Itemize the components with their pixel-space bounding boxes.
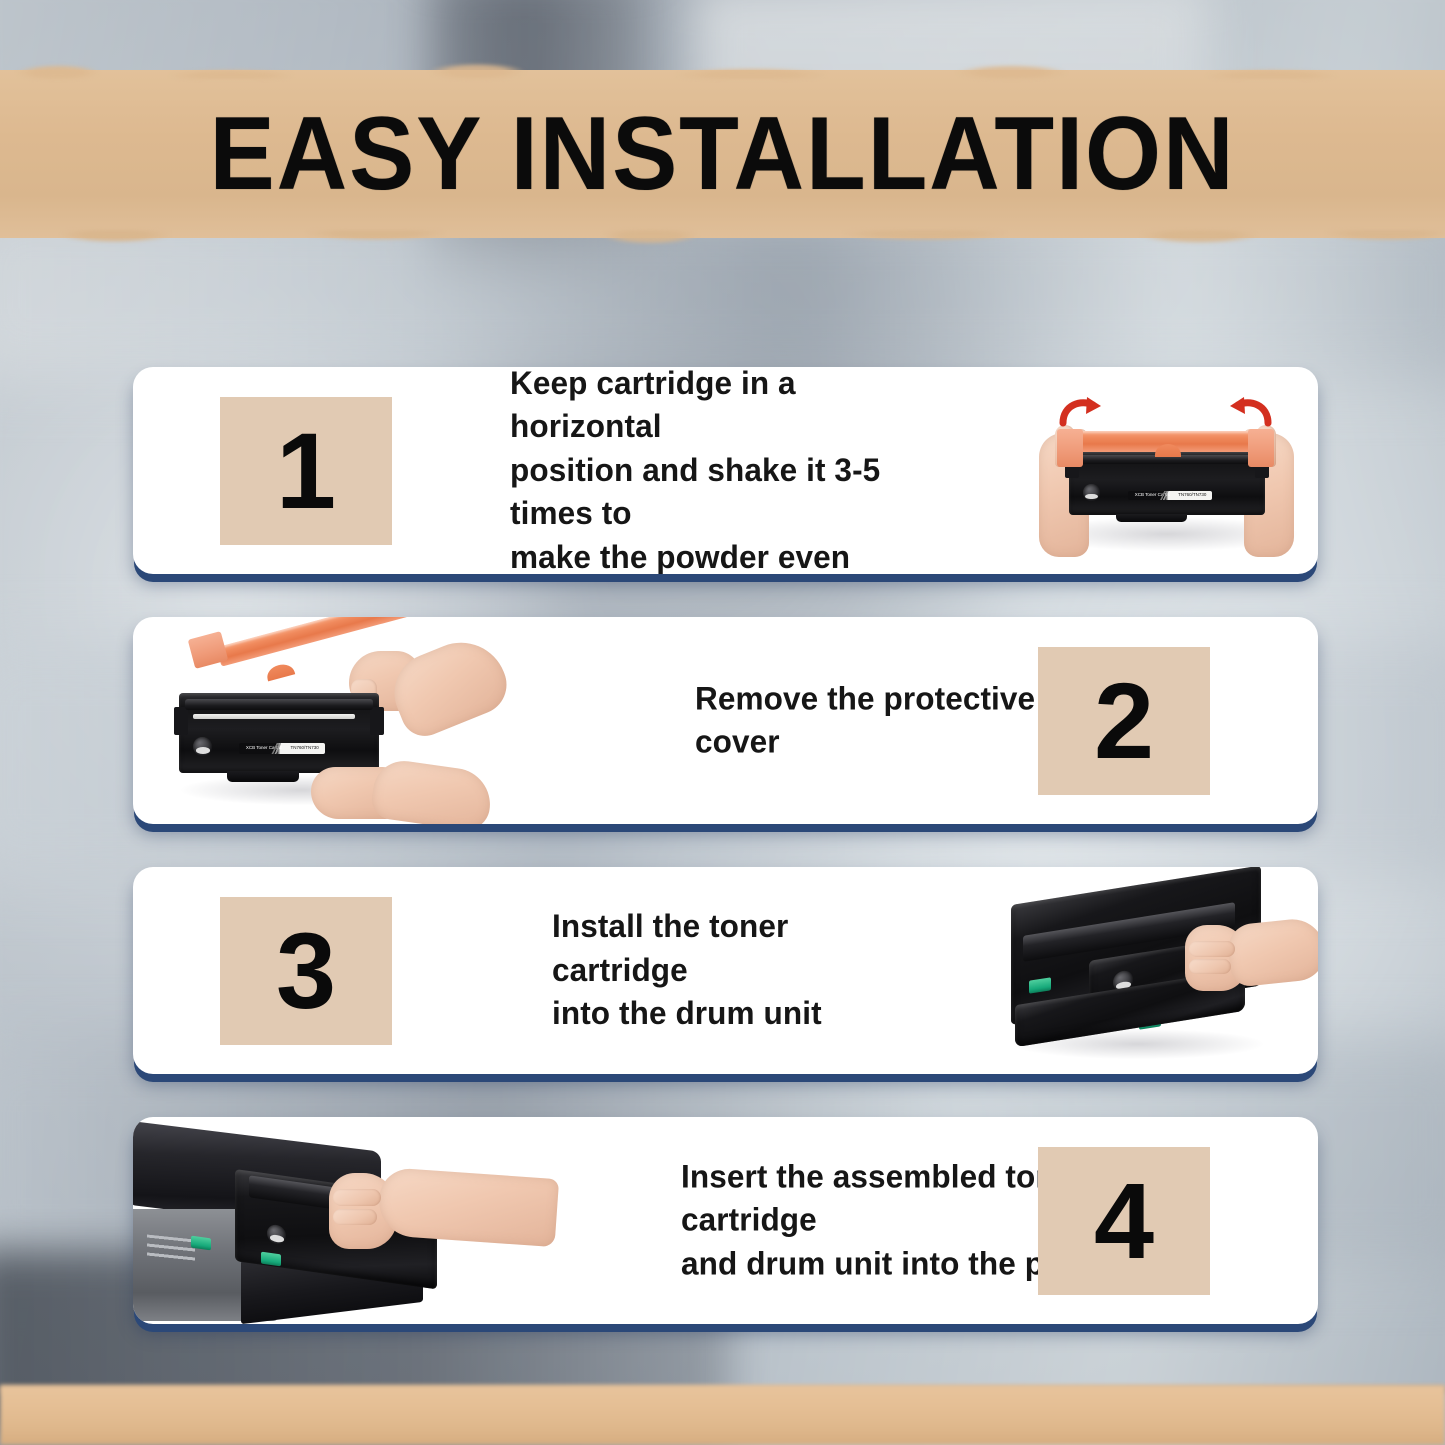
shake-arrow-left-icon [1059,395,1103,427]
step-description-1: Keep cartridge in a horizontal position … [510,367,927,574]
cover-end-cap-left [1057,429,1083,467]
cartridge-label: XCB Toner Cartridge TN760/TN730 [1128,491,1212,500]
step-card-2: XCB Toner Cartridge TN760/TN730 Remove t… [133,617,1318,824]
wooden-desk-surface [0,1385,1445,1445]
upper-forearm [382,629,515,743]
forearm [377,1167,559,1247]
step-card-1: 1 Keep cartridge in a horizontal positio… [133,367,1318,574]
cartridge-label: XCB Toner Cartridge TN760/TN730 [239,743,325,754]
step-image-2: XCB Toner Cartridge TN760/TN730 [161,617,581,824]
toner-cartridge: XCB Toner Cartridge TN760/TN730 [179,693,379,773]
infographic-page: EASY INSTALLATION 1 Keep cartridge in a … [0,0,1445,1445]
shake-arrow-right-icon [1228,395,1272,427]
cover-end-cap-right [1248,429,1274,467]
printer-vent [147,1234,195,1265]
step-image-4 [133,1117,553,1324]
toner-cartridge: XCB Toner Cartridge TN760/TN730 [1069,451,1265,515]
step-image-3 [993,867,1318,1074]
step-description-3: Install the toner cartridge into the dru… [552,905,921,1036]
step-number-badge-3: 3 [220,897,392,1045]
title-banner: EASY INSTALLATION [0,70,1445,238]
step-card-4: Insert the assembled toner cartridge and… [133,1117,1318,1324]
lower-forearm [369,757,494,824]
step-image-1: XCB Toner Cartridge TN760/TN730 [1013,367,1318,574]
page-title: EASY INSTALLATION [43,70,1401,238]
step-number-badge-4: 4 [1038,1147,1210,1295]
step-card-3: 3 Install the toner cartridge into the d… [133,867,1318,1074]
step-number-badge-1: 1 [220,397,392,545]
forearm [1226,916,1318,988]
step-number-badge-2: 2 [1038,647,1210,795]
